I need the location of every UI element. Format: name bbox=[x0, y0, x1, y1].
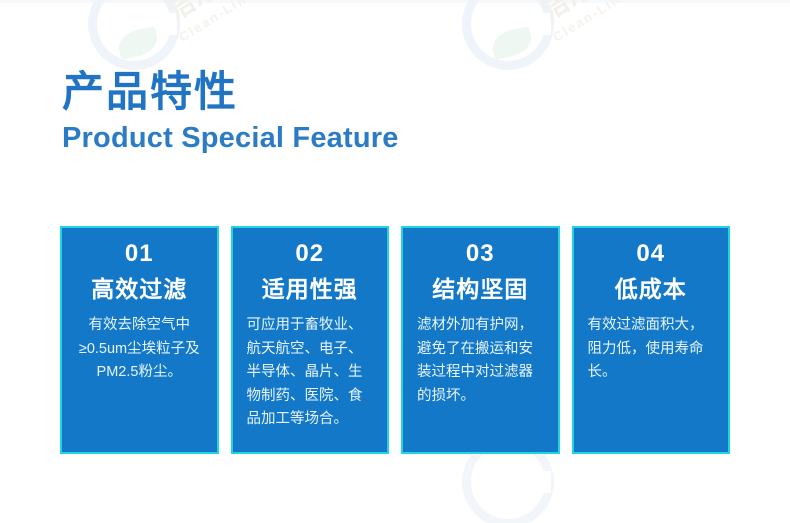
watermark-logo-icon bbox=[88, 0, 180, 70]
card-number: 02 bbox=[295, 242, 324, 266]
page-title: 产品特性 bbox=[62, 70, 399, 114]
watermark-leaf-icon bbox=[490, 26, 535, 60]
watermark-logo-icon bbox=[462, 0, 554, 70]
watermark-text-cn: 洁净科技 bbox=[534, 0, 645, 27]
feature-card[interactable]: 02适用性强可应用于畜牧业、航天航空、电子、半导体、晶片、生物制药、医院、食品加… bbox=[231, 226, 390, 454]
card-heading: 结构坚固 bbox=[432, 277, 528, 302]
watermark-text-en: Clean-Link bbox=[176, 0, 257, 45]
watermark-band-top bbox=[0, 0, 790, 3]
card-body-text: 有效过滤面积大，阻力低，使用寿命长。 bbox=[584, 314, 719, 384]
watermark-logo-gap bbox=[147, 13, 177, 35]
watermark-leaf-icon bbox=[116, 26, 161, 60]
watermark-logo-gap bbox=[521, 471, 551, 493]
watermark-text-cn: 洁净科技 bbox=[160, 0, 271, 27]
feature-card[interactable]: 04低成本有效过滤面积大，阻力低，使用寿命长。 bbox=[572, 226, 731, 454]
card-heading: 低成本 bbox=[615, 277, 687, 302]
card-number: 03 bbox=[466, 242, 495, 266]
card-number: 01 bbox=[125, 242, 154, 266]
card-heading: 高效过滤 bbox=[91, 277, 187, 302]
card-body-text: 可应用于畜牧业、航天航空、电子、半导体、晶片、生物制药、医院、食品加工等场合。 bbox=[243, 314, 378, 431]
heading-block: 产品特性 Product Special Feature bbox=[62, 70, 399, 155]
feature-card[interactable]: 01高效过滤有效去除空气中≥0.5um尘埃粒子及PM2.5粉尘。 bbox=[60, 226, 219, 454]
card-number: 04 bbox=[636, 242, 665, 266]
card-body-text: 有效去除空气中≥0.5um尘埃粒子及PM2.5粉尘。 bbox=[72, 314, 207, 384]
card-heading: 适用性强 bbox=[262, 277, 358, 302]
watermark-text-en: Clean-Link bbox=[550, 0, 631, 45]
page-subtitle: Product Special Feature bbox=[62, 123, 399, 155]
feature-card[interactable]: 03结构坚固滤材外加有护网，避免了在搬运和安装过程中对过滤器的损坏。 bbox=[401, 226, 560, 454]
card-body-text: 滤材外加有护网，避免了在搬运和安装过程中对过滤器的损坏。 bbox=[413, 314, 548, 408]
feature-cards-row: 01高效过滤有效去除空气中≥0.5um尘埃粒子及PM2.5粉尘。02适用性强可应… bbox=[60, 226, 730, 454]
watermark-logo-gap bbox=[521, 13, 551, 35]
